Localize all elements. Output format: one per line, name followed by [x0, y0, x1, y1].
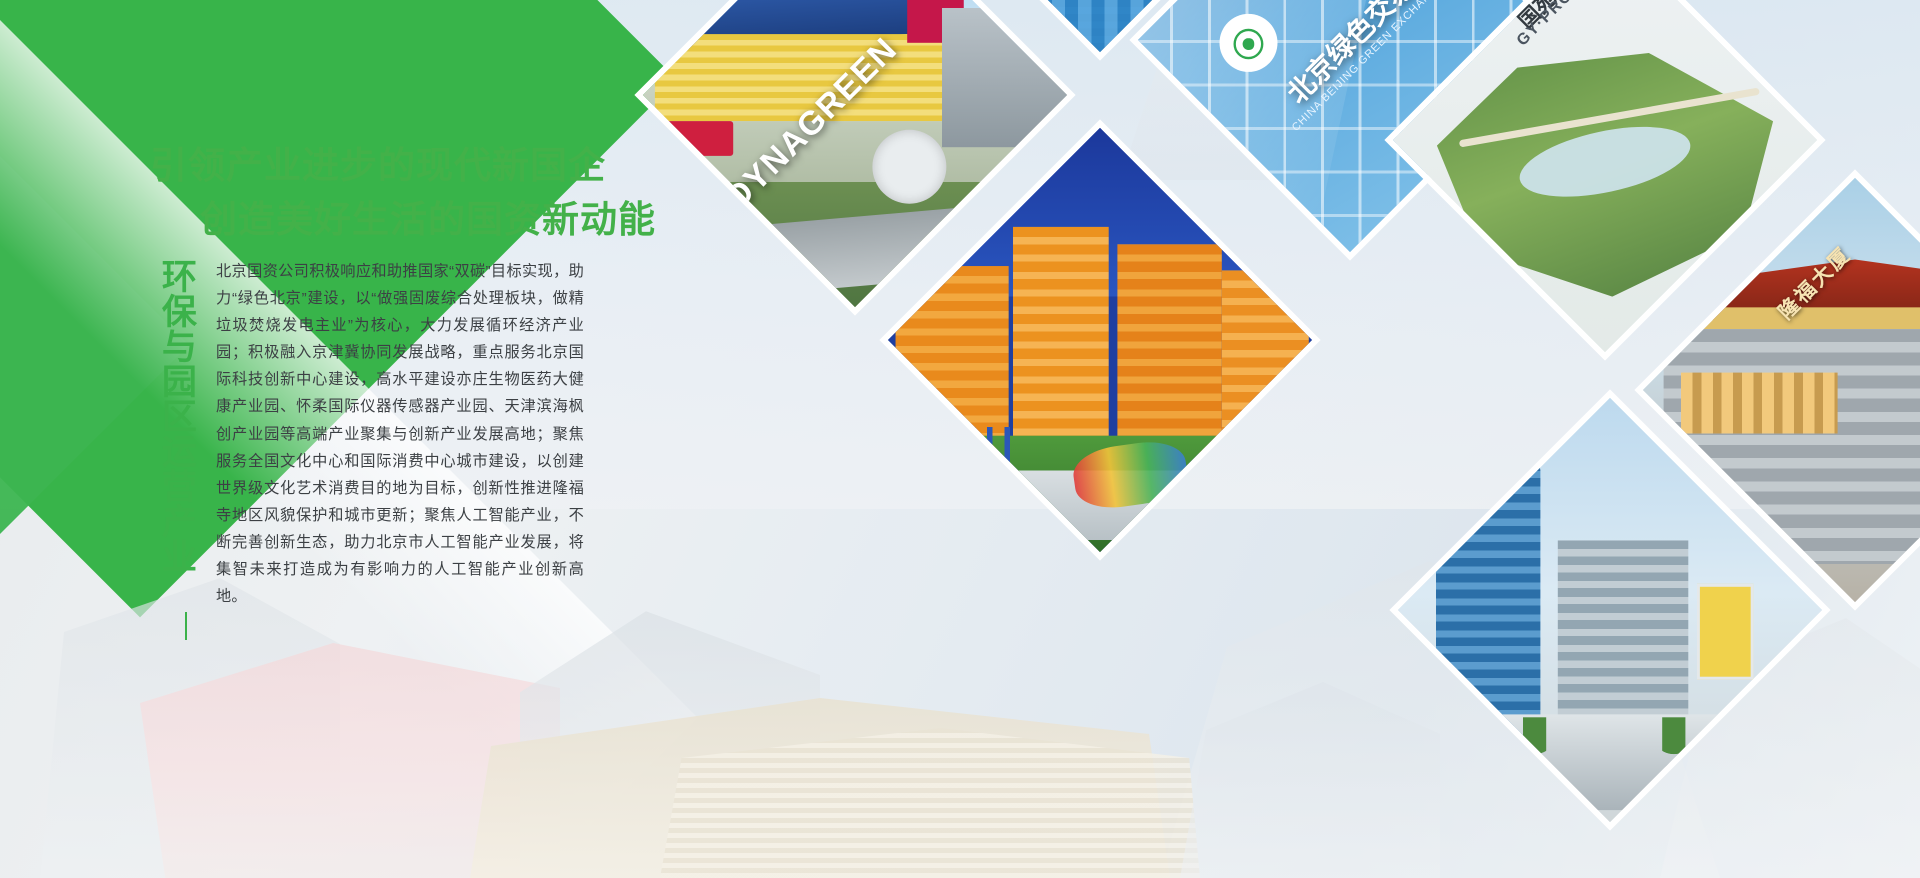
photo-collage: DYNAGREEN ⦿ 北京绿色交易所 CHINA BEIJING GREEN … [620, 0, 1920, 878]
campus-building-1 [896, 266, 1009, 449]
tree [1471, 717, 1494, 766]
green-exchange-logo-icon: ⦿ [1220, 14, 1278, 72]
tree [1662, 717, 1685, 766]
banner-stage: DYNAGREEN ⦿ 北京绿色交易所 CHINA BEIJING GREEN … [0, 0, 1920, 878]
headline-line-2: 创造美好生活的国资新动能 [150, 194, 710, 248]
campus-building-4 [1222, 270, 1309, 453]
vertical-label-rule [185, 612, 187, 640]
building-grey [942, 8, 1067, 147]
campus-building-2 [1013, 227, 1109, 453]
flag-row [917, 427, 1013, 479]
plaque-circle [872, 130, 946, 204]
golden-eaves [1681, 307, 1920, 329]
vertical-category-text: 环保与园区运营产业 [158, 258, 194, 573]
building-yellow [655, 34, 960, 121]
body-paragraph: 北京国资公司积极响应和助推国家“双碳”目标实现，助力“绿色北京”建设，以“做强固… [216, 258, 584, 610]
headline-block: 引领产业进步的现代新国企 创造美好生活的国资新动能 [150, 140, 710, 247]
billboard [1697, 584, 1754, 680]
campus-building-3 [1117, 244, 1221, 453]
lit-windows [1681, 373, 1838, 434]
tree [1523, 717, 1546, 766]
headline-line-1: 引领产业进步的现代新国企 [150, 140, 710, 194]
podium [1410, 714, 1810, 810]
vertical-category-label: 环保与园区运营产业 [152, 258, 200, 608]
